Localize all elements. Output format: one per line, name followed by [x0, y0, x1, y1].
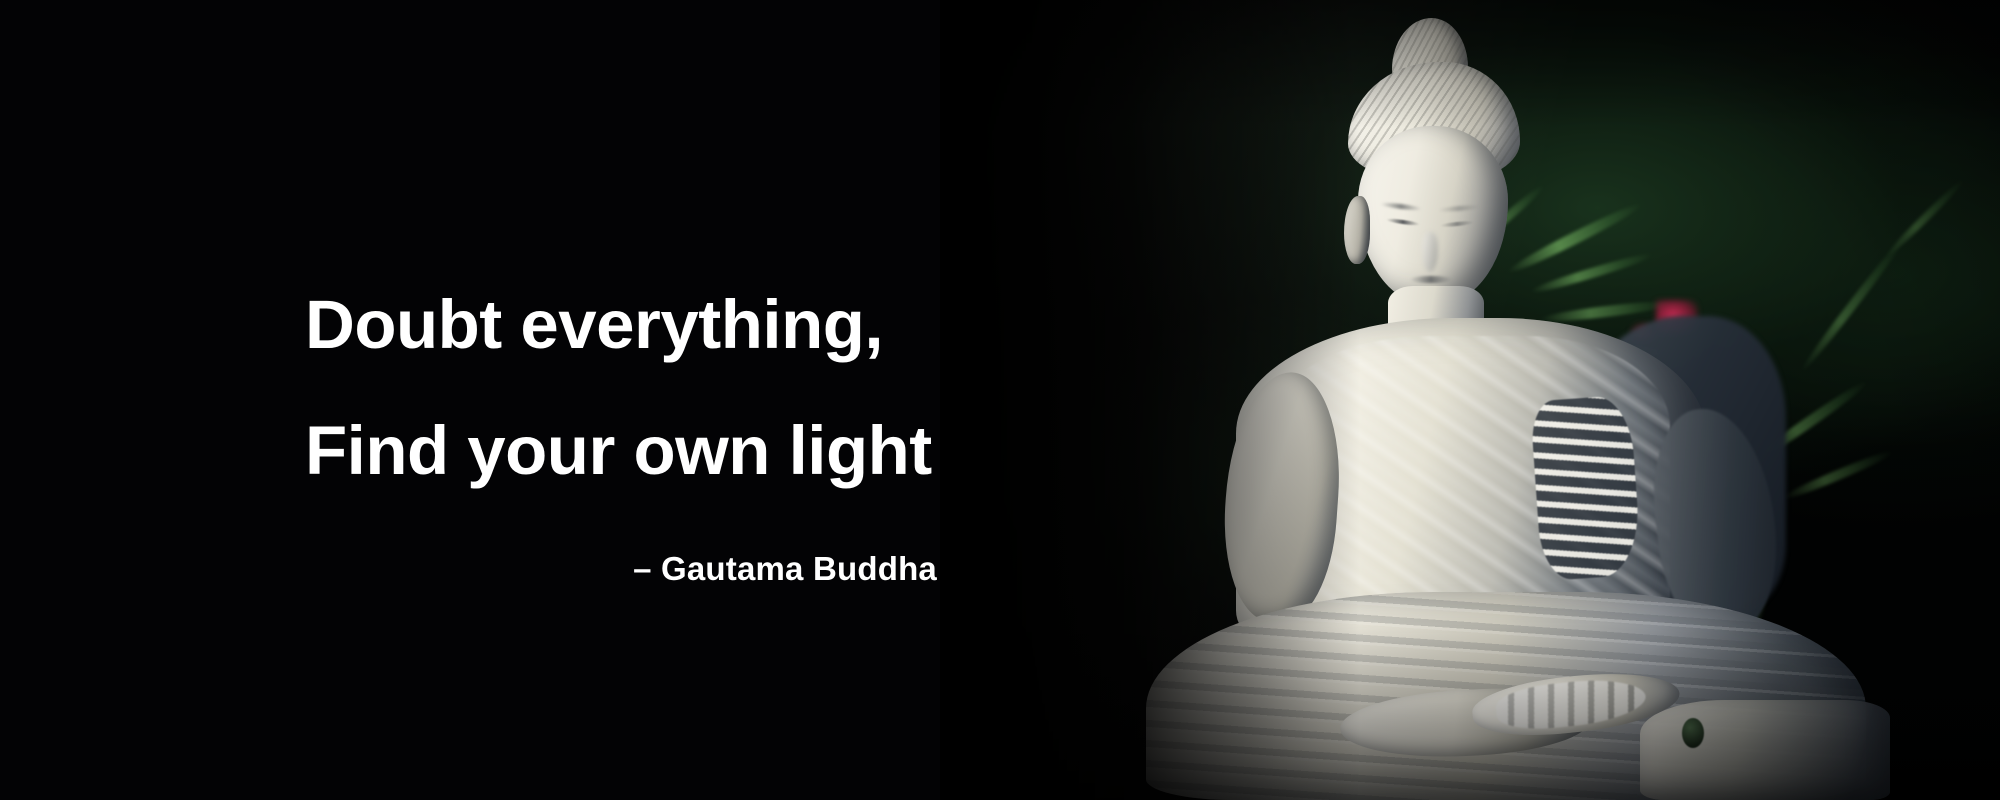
quote-banner: Doubt everything, Find your own light – … — [0, 0, 2000, 800]
quote-line-2: Find your own light — [305, 388, 1025, 514]
dark-green-bead — [1682, 718, 1704, 748]
robe-pleat-stack — [1530, 395, 1642, 582]
quote-line-1: Doubt everything, — [305, 262, 1025, 388]
buddha-statue — [940, 0, 2000, 800]
elongated-ear — [1344, 196, 1370, 264]
right-knee — [1640, 700, 1890, 800]
mouth — [1410, 276, 1452, 283]
quote-block: Doubt everything, Find your own light – … — [305, 262, 1025, 588]
nose — [1422, 232, 1438, 272]
quote-attribution: – Gautama Buddha — [305, 550, 1025, 588]
buddha-statue-photo — [940, 0, 2000, 800]
